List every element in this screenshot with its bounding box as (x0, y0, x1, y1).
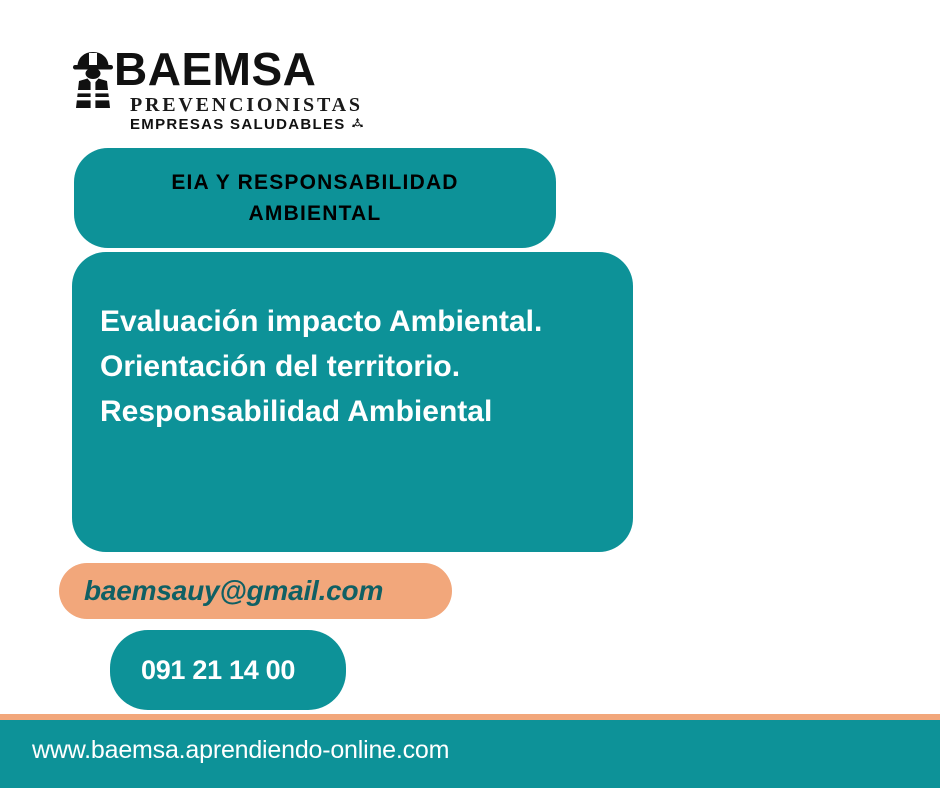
brand-tagline: PREVENCIONISTAS (130, 94, 363, 116)
title-card: EIA Y RESPONSABILIDAD AMBIENTAL (74, 148, 556, 248)
website-url[interactable]: www.baemsa.aprendiendo-online.com (32, 736, 449, 765)
poster-canvas: BAEMSA PREVENCIONISTAS EMPRESAS SALUDABL… (0, 0, 940, 788)
phone-badge[interactable]: 091 21 14 00 (110, 630, 346, 710)
body-card: Evaluación impacto Ambiental. Orientació… (72, 252, 633, 552)
phone-number[interactable]: 091 21 14 00 (110, 655, 295, 686)
body-line: Evaluación impacto Ambiental. (72, 299, 633, 344)
email-badge[interactable]: baemsauy@gmail.com (59, 563, 452, 619)
recycle-icon (351, 117, 364, 135)
body-line: Responsabilidad Ambiental (72, 389, 633, 434)
footer-bar: www.baemsa.aprendiendo-online.com (0, 714, 940, 788)
email-address[interactable]: baemsauy@gmail.com (59, 575, 383, 607)
brand-logo: BAEMSA PREVENCIONISTAS EMPRESAS SALUDABL… (70, 44, 370, 134)
page-title: EIA Y RESPONSABILIDAD AMBIENTAL (115, 167, 515, 229)
brand-subtagline-row: EMPRESAS SALUDABLES (130, 116, 364, 135)
body-line: Orientación del territorio. (72, 344, 633, 389)
worker-hardhat-vest-icon (70, 50, 116, 112)
brand-subtagline: EMPRESAS SALUDABLES (130, 116, 346, 133)
brand-name: BAEMSA (114, 44, 316, 94)
